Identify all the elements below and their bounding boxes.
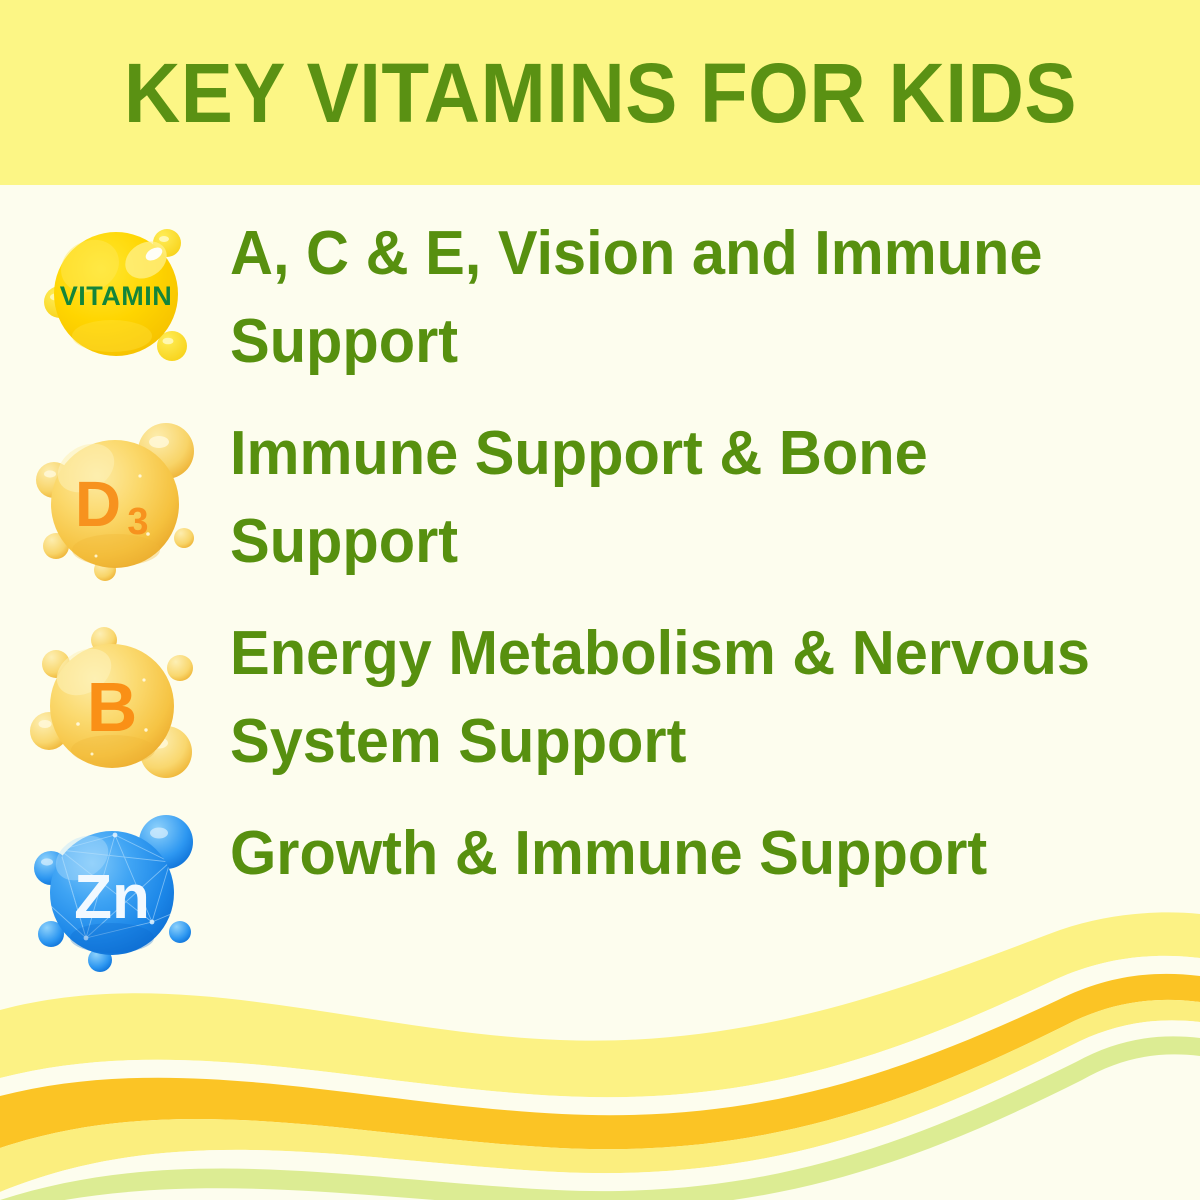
header-band: KEY VITAMINS FOR KIDS (0, 0, 1200, 185)
zinc-capsule-icon: Zn (20, 810, 210, 975)
list-item-text: Growth & Immune Support (230, 810, 1104, 898)
list-item: B Energy Metabolism & Nervous System Sup… (0, 610, 1200, 810)
text-cell: A, C & E, Vision and Immune Support (230, 210, 1200, 386)
text-cell: Growth & Immune Support (230, 810, 1200, 898)
list-item: Zn Growth & Immune Support (0, 810, 1200, 980)
vitamin-ace-capsule-icon: VITAMIN (20, 218, 210, 378)
wave-orange (0, 974, 1200, 1149)
text-cell: Immune Support & Bone Support (230, 410, 1200, 586)
infographic-poster: KEY VITAMINS FOR KIDS (0, 0, 1200, 1200)
list-item-text: Energy Metabolism & Nervous System Suppo… (230, 610, 1104, 786)
icon-label-subscript: 3 (127, 501, 148, 543)
list-item: D 3 Immune Support & Bone Support (0, 410, 1200, 610)
icon-label: D (75, 468, 121, 540)
list-item-text: Immune Support & Bone Support (230, 410, 1104, 586)
icon-cell: B (0, 610, 230, 793)
wave-light-green (0, 1036, 1200, 1200)
text-cell: Energy Metabolism & Nervous System Suppo… (230, 610, 1200, 786)
wave-soft-yellow (0, 1000, 1200, 1192)
list-item-text: A, C & E, Vision and Immune Support (230, 210, 1104, 386)
vitamin-d3-capsule-icon: D 3 (20, 418, 210, 593)
icon-label: VITAMIN (60, 281, 173, 311)
icon-cell: VITAMIN (0, 210, 230, 378)
page-title: KEY VITAMINS FOR KIDS (123, 51, 1076, 135)
vitamin-b-capsule-icon: B (20, 618, 210, 793)
icon-label: B (87, 668, 138, 746)
vitamin-list: VITAMIN A, C & E, Vision and Immune Supp… (0, 185, 1200, 965)
icon-cell: Zn (0, 810, 230, 975)
list-item: VITAMIN A, C & E, Vision and Immune Supp… (0, 210, 1200, 410)
icon-cell: D 3 (0, 410, 230, 593)
icon-label: Zn (74, 863, 150, 932)
wave-white-gap-lower (0, 1020, 1200, 1200)
